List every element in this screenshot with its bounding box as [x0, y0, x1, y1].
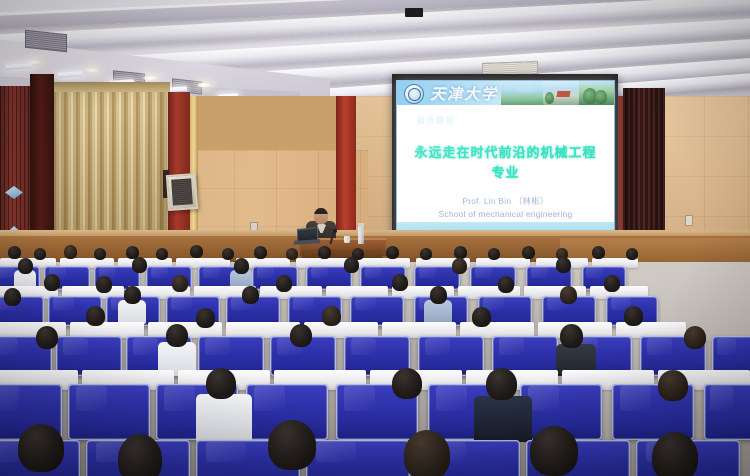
auditorium-seat[interactable]	[68, 384, 150, 440]
audience-head	[222, 248, 234, 260]
audience-head	[452, 258, 467, 274]
audience-head	[498, 276, 514, 293]
university-seal-icon	[404, 84, 424, 104]
audience-head	[386, 246, 399, 259]
ceiling-downlight	[84, 67, 100, 73]
audience-head	[8, 246, 21, 259]
audience-head	[652, 432, 698, 476]
audience-head	[254, 246, 267, 259]
audience-head	[124, 286, 141, 304]
slide-presenter-name: Prof. Lin Bin （林彬）	[397, 195, 614, 208]
audience-head	[684, 326, 706, 349]
slide-title-line-2: 专业	[397, 163, 614, 183]
audience-head	[172, 275, 188, 292]
audience-head	[604, 275, 620, 292]
lecture-hall-photo: 天津大学 报告题目： 永远走在时代前沿的机械工程 专业 Prof. Lin Bi…	[0, 0, 750, 476]
audience-head	[286, 248, 298, 260]
slide-header-banner: 天津大学	[397, 81, 614, 105]
audience-shirt	[474, 396, 532, 442]
audience-area	[0, 244, 750, 476]
tree-shape	[595, 90, 607, 104]
ceiling-downlight	[142, 75, 158, 81]
auditorium-seat[interactable]	[704, 384, 750, 440]
audience-head	[392, 368, 422, 399]
slide-school-name: School of mechanical engineering	[397, 208, 614, 221]
audience-head	[156, 248, 168, 260]
microphone-head	[333, 229, 337, 233]
audience-head	[592, 246, 605, 259]
presenter-head	[314, 208, 328, 224]
audience-head	[166, 324, 188, 347]
audience-head	[530, 426, 578, 476]
audience-head	[276, 275, 292, 292]
water-bottle-icon	[358, 226, 364, 244]
audience-head	[206, 368, 236, 399]
audience-head	[242, 286, 259, 304]
audience-head	[234, 258, 249, 274]
audience-head	[454, 246, 467, 259]
campus-photo	[501, 81, 543, 105]
tree-shape	[545, 92, 554, 104]
audience-head	[318, 246, 331, 259]
paper-cup-icon	[344, 236, 350, 243]
audience-head	[560, 286, 577, 304]
audience-head	[4, 288, 21, 306]
audience-head	[560, 324, 583, 348]
audience-head	[190, 245, 203, 258]
audience-head	[94, 248, 106, 260]
building-roof-shape	[556, 91, 570, 97]
audience-head	[44, 274, 60, 291]
audience-head	[344, 257, 359, 273]
audience-head	[322, 306, 341, 326]
audience-head	[36, 326, 58, 349]
audience-head	[34, 248, 46, 260]
audience-head	[392, 274, 408, 291]
acoustic-diffuser-icon	[5, 186, 23, 199]
speaker-grille	[171, 178, 193, 205]
audience-head	[488, 248, 500, 260]
wall-loudspeaker-icon	[166, 173, 198, 211]
slide-title: 永远走在时代前沿的机械工程 专业	[397, 143, 614, 183]
audience-head	[420, 248, 432, 260]
audience-head	[430, 286, 447, 304]
audience-shirt	[196, 394, 252, 442]
audience-head	[472, 307, 491, 327]
audience-head	[556, 257, 571, 273]
wall-outlet-icon	[685, 215, 693, 226]
ceiling-downlight	[196, 82, 212, 88]
audience-head	[624, 306, 643, 326]
audience-head	[196, 308, 215, 328]
slide-title-line-1: 永远走在时代前沿的机械工程	[397, 143, 614, 163]
audience-head	[96, 276, 112, 293]
projector-mount-icon	[405, 8, 423, 17]
audience-head	[86, 306, 105, 326]
audience-head	[64, 245, 77, 259]
red-column	[336, 96, 356, 241]
audience-head	[118, 434, 162, 476]
university-name-cn: 天津大学	[430, 83, 498, 104]
audience-head	[268, 420, 316, 470]
audience-head	[658, 370, 688, 401]
seal-inner-ring	[408, 88, 421, 101]
audience-head	[18, 424, 64, 472]
audience-head	[290, 324, 312, 347]
audience-head	[132, 257, 147, 273]
audience-head	[522, 246, 535, 259]
projection-screen[interactable]: 天津大学 报告题目： 永远走在时代前沿的机械工程 专业 Prof. Lin Bi…	[396, 80, 615, 237]
audience-head	[404, 430, 450, 476]
audience-head	[486, 368, 517, 400]
bottle-cap	[358, 223, 364, 227]
slide-body: 报告题目： 永远走在时代前沿的机械工程 专业 Prof. Lin Bin （林彬…	[397, 105, 614, 222]
slide-topic-label: 报告题目：	[417, 115, 465, 126]
auditorium-seat[interactable]	[306, 440, 410, 476]
audience-head	[626, 248, 638, 260]
audience-head	[18, 258, 33, 274]
